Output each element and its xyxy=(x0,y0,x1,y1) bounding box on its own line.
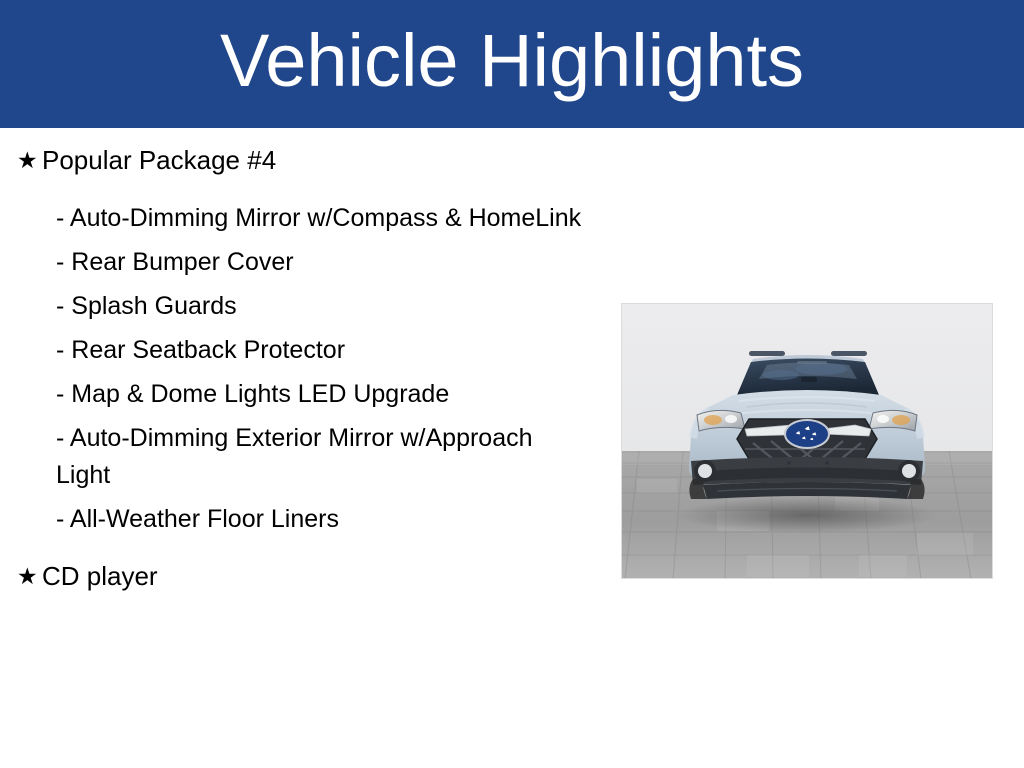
star-bullet-icon: ★ xyxy=(14,144,42,176)
list-item: - Map & Dome Lights LED Upgrade xyxy=(14,376,586,413)
slide-title-banner: Vehicle Highlights xyxy=(0,0,1024,128)
slide-content-area: ★ Popular Package #4 - Auto-Dimming Mirr… xyxy=(0,128,1024,768)
star-bullet-icon: ★ xyxy=(14,560,42,592)
vehicle-photo xyxy=(621,303,993,579)
list-item: - Splash Guards xyxy=(14,288,586,325)
page-title: Vehicle Highlights xyxy=(220,24,804,104)
list-item: - Rear Seatback Protector xyxy=(14,332,586,369)
list-item: - Auto-Dimming Mirror w/Compass & HomeLi… xyxy=(14,200,586,237)
list-item-label: CD player xyxy=(42,560,594,592)
list-item: - All-Weather Floor Liners xyxy=(14,501,586,538)
list-item-label: Popular Package #4 xyxy=(42,144,594,176)
list-item: - Auto-Dimming Exterior Mirror w/Approac… xyxy=(14,420,586,494)
list-item: - Rear Bumper Cover xyxy=(14,244,586,281)
list-item: ★ CD player xyxy=(14,560,594,592)
list-item: ★ Popular Package #4 xyxy=(14,144,594,176)
highlights-bullet-list: ★ Popular Package #4 - Auto-Dimming Mirr… xyxy=(14,144,594,598)
